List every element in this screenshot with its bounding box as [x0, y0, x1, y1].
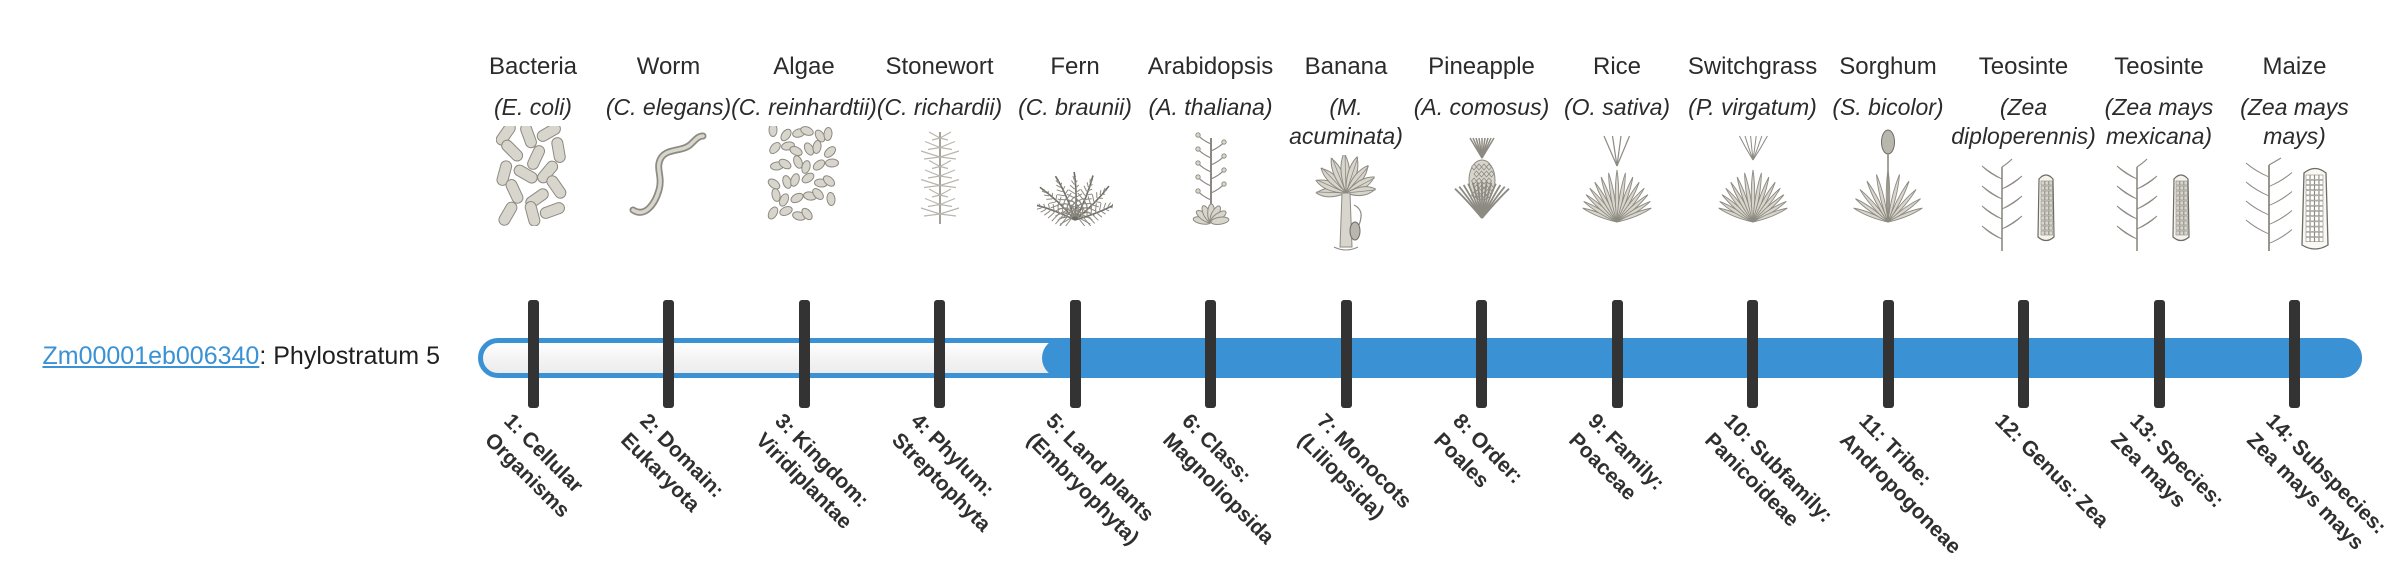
- axis-tick-1: [528, 300, 539, 408]
- species-latin-name: (O. sativa): [1542, 93, 1692, 122]
- species-common-name: Worm: [594, 52, 744, 82]
- species-common-name: Sorghum: [1813, 52, 1963, 82]
- maize-illustration: [2220, 155, 2370, 255]
- species-latin-name: (M. acuminata): [1271, 93, 1421, 151]
- species-common-name: Arabidopsis: [1136, 52, 1286, 82]
- stratum-label-5: 5: Land plants (Embryophyta): [1021, 408, 1172, 559]
- species-column-worm-1: Worm (C. elegans): [594, 52, 744, 226]
- species-common-name: Maize: [2220, 52, 2370, 82]
- species-latin-name: (Zea diploperennis): [1949, 93, 2099, 151]
- species-column-pineapple-7: Pineapple (A. comosus): [1407, 52, 1557, 226]
- species-column-rice-8: Rice (O. sativa): [1542, 52, 1692, 226]
- species-latin-name: (C. richardii): [865, 93, 1015, 122]
- stratum-label-2: 2: Domain: Eukaryota: [614, 408, 765, 559]
- species-column-teosinte-12: Teosinte (Zea mays mexicana): [2084, 52, 2234, 255]
- strata-label-row: 1: Cellular Organisms2: Domain: Eukaryot…: [0, 408, 2400, 580]
- species-column-sorghum-10: Sorghum (S. bicolor): [1813, 52, 1963, 226]
- axis-tick-11: [1883, 300, 1894, 408]
- arabidopsis-illustration: [1136, 126, 1286, 226]
- stratum-label-3: 3: Kingdom: Viridiplantae: [750, 408, 901, 559]
- species-column-stonewort-3: Stonewort (C. richardii): [865, 52, 1015, 226]
- stratum-label-8: 8: Order: Poales: [1427, 408, 1578, 559]
- phylostratum-progress-track[interactable]: [478, 338, 2362, 378]
- phylostratum-axis: [0, 300, 2400, 410]
- fern-illustration: [1000, 126, 1150, 226]
- species-column-fern-4: Fern (C. braunii): [1000, 52, 1150, 226]
- species-common-name: Stonewort: [865, 52, 1015, 82]
- axis-tick-14: [2289, 300, 2300, 408]
- algae-illustration: [729, 126, 879, 226]
- axis-tick-10: [1747, 300, 1758, 408]
- teosinte-mexicana-illustration: [2084, 155, 2234, 255]
- switchgrass-illustration: [1678, 126, 1828, 226]
- axis-tick-3: [799, 300, 810, 408]
- axis-tick-13: [2154, 300, 2165, 408]
- stratum-label-13: 13: Species: Zea mays: [2105, 408, 2256, 559]
- species-common-name: Teosinte: [2084, 52, 2234, 82]
- axis-tick-5: [1070, 300, 1081, 408]
- axis-tick-6: [1205, 300, 1216, 408]
- axis-tick-2: [663, 300, 674, 408]
- sorghum-illustration: [1813, 126, 1963, 226]
- species-column-algae-2: Algae (C. reinhardtii): [729, 52, 879, 226]
- species-column-arabidopsis-5: Arabidopsis (A. thaliana): [1136, 52, 1286, 226]
- pineapple-illustration: [1407, 126, 1557, 226]
- species-latin-name: (Zea mays mexicana): [2084, 93, 2234, 151]
- species-common-name: Teosinte: [1949, 52, 2099, 82]
- worm-illustration: [594, 126, 744, 226]
- stratum-label-1: 1: Cellular Organisms: [479, 408, 630, 559]
- stratum-label-10: 10: Subfamily: Panicoideae: [1698, 408, 1849, 559]
- species-column-switchgrass-9: Switchgrass (P. virgatum): [1678, 52, 1828, 226]
- species-header-row: Bacteria (E. coli): [464, 52, 2394, 292]
- axis-tick-7: [1341, 300, 1352, 408]
- species-latin-name: (S. bicolor): [1813, 93, 1963, 122]
- stratum-label-12: 12: Genus: Zea: [1988, 408, 2120, 540]
- species-column-teosinte-11: Teosinte (Zea diploperennis): [1949, 52, 2099, 255]
- species-column-bacteria-0: Bacteria (E. coli): [458, 52, 608, 226]
- species-common-name: Switchgrass: [1678, 52, 1828, 82]
- axis-tick-4: [934, 300, 945, 408]
- axis-tick-8: [1476, 300, 1487, 408]
- stratum-label-6: 6: Class: Magnoliopsida: [1156, 408, 1307, 559]
- stonewort-illustration: [865, 126, 1015, 226]
- species-latin-name: (E. coli): [458, 93, 608, 122]
- species-common-name: Bacteria: [458, 52, 608, 82]
- species-latin-name: (A. thaliana): [1136, 93, 1286, 122]
- species-common-name: Rice: [1542, 52, 1692, 82]
- axis-tick-12: [2018, 300, 2029, 408]
- species-column-banana-6: Banana (M. acuminata): [1271, 52, 1421, 255]
- stratum-label-11: 11: Tribe: Andropogoneae: [1834, 408, 1985, 559]
- stratum-label-4: 4: Phylum: Streptophyta: [885, 408, 1036, 559]
- stratum-label-9: 9: Family: Poaceae: [1563, 408, 1714, 559]
- species-latin-name: (C. reinhardtii): [729, 93, 879, 122]
- species-common-name: Algae: [729, 52, 879, 82]
- banana-illustration: [1271, 155, 1421, 255]
- axis-tick-9: [1612, 300, 1623, 408]
- species-common-name: Pineapple: [1407, 52, 1557, 82]
- species-common-name: Banana: [1271, 52, 1421, 82]
- rice-illustration: [1542, 126, 1692, 226]
- species-latin-name: (C. elegans): [594, 93, 744, 122]
- species-latin-name: (A. comosus): [1407, 93, 1557, 122]
- stratum-label-7: 7: Monocots (Liliopsida): [1292, 408, 1443, 559]
- stratum-label-14: 14: Subspecies: Zea mays mays: [2240, 408, 2391, 559]
- species-latin-name: (C. braunii): [1000, 93, 1150, 122]
- teosinte-diploperennis-illustration: [1949, 155, 2099, 255]
- species-latin-name: (Zea mays mays): [2220, 93, 2370, 151]
- species-column-maize-13: Maize (Zea mays mays): [2220, 52, 2370, 255]
- bacteria-illustration: [458, 126, 608, 226]
- species-latin-name: (P. virgatum): [1678, 93, 1828, 122]
- species-common-name: Fern: [1000, 52, 1150, 82]
